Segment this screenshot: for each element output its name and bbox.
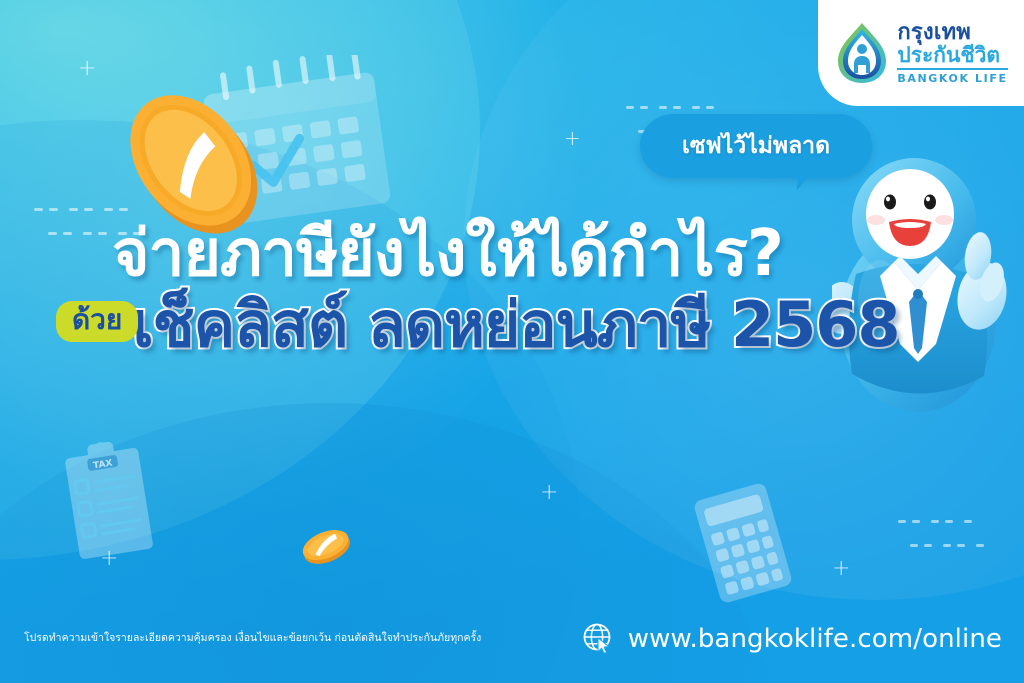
logo-thai-line-2: ประกันชีวิต [897, 45, 1007, 70]
plus-mark-icon: + [832, 558, 850, 580]
flame-person-logo-icon [834, 21, 890, 85]
calculator-icon [678, 478, 808, 608]
website-url-text: www.bangkoklife.com/online [628, 624, 1002, 654]
plus-mark-icon: + [540, 482, 558, 504]
headline-badge: ด้วย [56, 301, 138, 342]
headline-line-1: จ่ายภาษียังไงให้ได้กำไร? [112, 222, 1024, 286]
headline-block: จ่ายภาษียังไงให้ได้กำไร? ด้วย เช็คลิสต์ … [0, 222, 1024, 356]
dashed-line-icon [898, 508, 990, 551]
speech-bubble: เซฟไว้ไม่พลาด [640, 114, 872, 178]
plus-mark-icon: + [100, 548, 118, 570]
globe-cursor-icon [582, 622, 616, 656]
brand-logo-inner: กรุงเทพ ประกันชีวิต BANGKOK LIFE [826, 21, 1015, 85]
plus-mark-icon: + [564, 128, 581, 148]
headline-line-2: เช็คลิสต์ ลดหย่อนภาษี 2568 [132, 294, 899, 356]
website-link[interactable]: www.bangkoklife.com/online [582, 622, 1002, 656]
brand-logo-card[interactable]: กรุงเทพ ประกันชีวิต BANGKOK LIFE [818, 0, 1024, 106]
brand-logo-text: กรุงเทพ ประกันชีวิต BANGKOK LIFE [897, 22, 1007, 84]
plus-mark-icon: + [78, 58, 96, 80]
speech-bubble-text: เซฟไว้ไม่พลาด [640, 114, 872, 178]
gold-coin-small-icon [296, 520, 356, 572]
disclaimer-text: โปรดทำความเข้าใจรายละเอียดความคุ้มครอง เ… [24, 629, 481, 646]
logo-thai-line-1: กรุงเทพ [897, 22, 1007, 44]
promo-banner: TAX [0, 0, 1024, 683]
logo-english-line: BANGKOK LIFE [897, 73, 1007, 84]
headline-row-2: ด้วย เช็คลิสต์ ลดหย่อนภาษี 2568 [0, 294, 1024, 356]
